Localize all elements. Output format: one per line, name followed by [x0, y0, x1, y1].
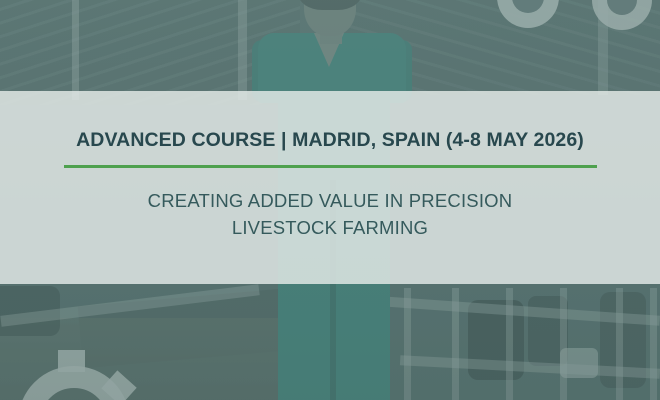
course-subtitle-line-2: LIVESTOCK FARMING [148, 214, 513, 241]
course-subtitle: CREATING ADDED VALUE IN PRECISION LIVEST… [148, 187, 513, 242]
course-subtitle-line-1: CREATING ADDED VALUE IN PRECISION [148, 187, 513, 214]
title-divider [64, 165, 597, 168]
event-title: ADVANCED COURSE | MADRID, SPAIN (4-8 MAY… [76, 129, 584, 152]
event-promo-banner: ADVANCED COURSE | MADRID, SPAIN (4-8 MAY… [0, 0, 660, 400]
content-band: ADVANCED COURSE | MADRID, SPAIN (4-8 MAY… [0, 91, 660, 284]
